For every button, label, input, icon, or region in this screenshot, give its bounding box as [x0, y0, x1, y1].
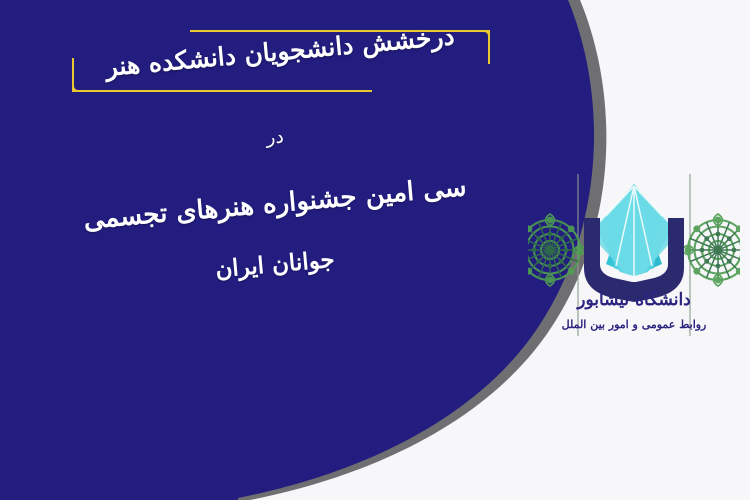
poster-body: در سی امین جشنواره هنرهای تجسمی جوانان ا…	[40, 128, 510, 276]
body-line-festival: سی امین جشنواره هنرهای تجسمی	[40, 171, 510, 238]
arabesque-ornament-right	[682, 214, 740, 286]
open-book-icon	[584, 184, 684, 302]
logo-university-name: دانشگاه نیشابور	[528, 290, 740, 310]
arabesque-ornament-left	[528, 214, 586, 286]
university-logo: دانشگاه نیشابور روابط عمومی و امور بین ا…	[528, 168, 740, 353]
poster-canvas: درخشش دانشجویان دانشکده هنر در سی امین ج…	[0, 0, 750, 500]
logo-department-name: روابط عمومی و امور بین الملل	[528, 318, 740, 331]
